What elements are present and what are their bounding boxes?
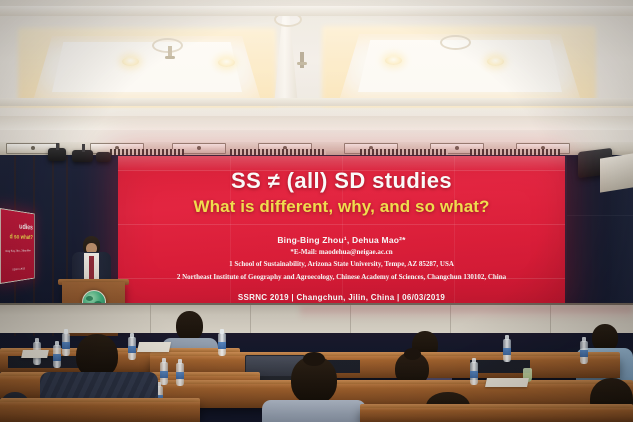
downlight-2 <box>218 58 235 67</box>
water-bottle-10 <box>470 362 478 385</box>
floor-screen-reflection <box>300 306 633 320</box>
side-screen-conf: SSRNC 2019 <box>2 266 32 273</box>
desk-near-right <box>360 408 633 422</box>
ceiling-step-lower <box>0 116 633 130</box>
speaker-mount-2 <box>82 144 85 152</box>
side-projection-screen: udies d so what? Bing-Bing Zhou, Dehua M… <box>0 208 35 284</box>
slide-title: SS ≠ (all) SD studies <box>231 169 452 192</box>
water-bottle-1 <box>62 333 70 356</box>
slide-conference-line: SSRNC 2019 | Changchun, Jilin, China | 0… <box>238 293 445 302</box>
water-bottle-4 <box>128 337 136 360</box>
paper-sheet-2 <box>21 350 49 358</box>
water-bottle-8 <box>160 362 168 385</box>
speaker-icon-3 <box>96 152 111 162</box>
sprinkler-icon-2 <box>300 52 304 68</box>
water-bottle-5 <box>218 333 226 356</box>
head <box>176 311 203 341</box>
side-screen-authors: Bing-Bing Zhou, Dehua Mao <box>2 249 32 255</box>
wall-seam-right <box>567 215 633 216</box>
downlight-4 <box>487 57 504 66</box>
downlight-3 <box>385 56 402 65</box>
wall-mount-right <box>600 153 633 192</box>
side-screen-subtitle: d so what? <box>2 233 32 241</box>
water-bottle-9 <box>176 363 184 386</box>
water-bottle-7 <box>580 341 588 364</box>
water-bottle-3 <box>53 345 61 368</box>
slide-content: SS ≠ (all) SD studies What is different,… <box>118 156 565 305</box>
torso <box>262 400 366 422</box>
ceiling <box>0 0 633 152</box>
ceiling-panel-left-inner <box>52 42 242 92</box>
slide-email: *E-Mail: maodehua@neigae.ac.cn <box>290 248 392 256</box>
speaker-mount-1 <box>56 143 59 150</box>
desk-near-left <box>0 402 200 422</box>
conference-photo: SS ≠ (all) SD studies What is different,… <box>0 0 633 422</box>
paper-sheet-3 <box>485 378 529 387</box>
downlight-1 <box>122 57 139 66</box>
smoke-detector-icon-2 <box>440 35 471 50</box>
hair-bun <box>303 352 325 366</box>
water-bottle-6 <box>503 339 511 362</box>
slide-affiliation-1: 1 School of Sustainability, Arizona Stat… <box>229 259 454 270</box>
slide-authors: Bing-Bing Zhou¹, Dehua Mao²* <box>277 235 405 245</box>
slide-affiliation-2: 2 Northeast Institute of Geography and A… <box>177 272 506 283</box>
desk-panel-far-2 <box>470 360 530 373</box>
ceiling-beam-bottom <box>0 98 633 106</box>
paper-sheet-1 <box>137 342 171 352</box>
presenter-tie <box>89 256 94 280</box>
ceiling-beam-top <box>0 6 633 16</box>
led-presentation-screen: SS ≠ (all) SD studies What is different,… <box>118 156 565 305</box>
side-screen-title: udies <box>3 220 33 231</box>
slide-subtitle: What is different, why, and so what? <box>193 198 489 216</box>
sprinkler-icon <box>168 46 172 58</box>
hair-bun <box>404 348 421 360</box>
